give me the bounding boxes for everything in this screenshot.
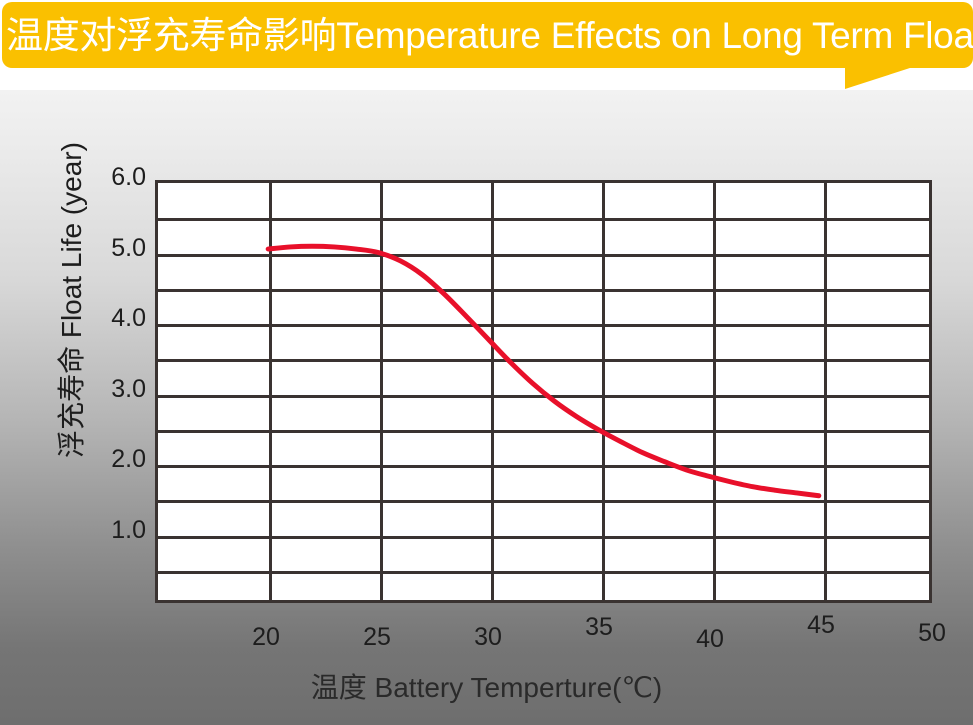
title-banner-tail-icon — [845, 67, 913, 89]
title-banner: 温度对浮充寿命影响Temperature Effects on Long Ter… — [2, 2, 973, 68]
gridline-vertical — [713, 183, 716, 600]
gridline-vertical — [602, 183, 605, 600]
x-tick-label: 35 — [569, 613, 629, 642]
page-title: 温度对浮充寿命影响Temperature Effects on Long Ter… — [6, 12, 973, 60]
plot-area — [155, 180, 932, 603]
x-tick-label: 50 — [902, 619, 962, 648]
y-tick-label: 1.0 — [84, 516, 146, 545]
gridline-horizontal — [158, 324, 929, 327]
gridline-vertical — [824, 183, 827, 600]
gridline-horizontal — [158, 536, 929, 539]
x-tick-label: 30 — [458, 623, 518, 652]
gridline-horizontal — [158, 289, 929, 292]
y-tick-label: 6.0 — [84, 163, 146, 192]
y-tick-label: 2.0 — [84, 445, 146, 474]
x-tick-label: 40 — [680, 625, 740, 654]
y-tick-label: 4.0 — [84, 304, 146, 333]
gridline-horizontal — [158, 465, 929, 468]
gridline-vertical — [491, 183, 494, 600]
gridline-horizontal — [158, 359, 929, 362]
y-axis-title: 浮充寿命 Float Life (year) — [50, 90, 90, 510]
y-tick-label: 3.0 — [84, 375, 146, 404]
x-tick-label: 45 — [791, 611, 851, 640]
data-series-line — [268, 246, 819, 496]
gridline-horizontal — [158, 218, 929, 221]
gridline-horizontal — [158, 395, 929, 398]
y-tick-label: 5.0 — [84, 234, 146, 263]
gridline-horizontal — [158, 430, 929, 433]
gridline-horizontal — [158, 500, 929, 503]
chart-page: 温度对浮充寿命影响Temperature Effects on Long Ter… — [0, 0, 973, 725]
gridline-vertical — [380, 183, 383, 600]
x-axis-title: 温度 Battery Temperture(℃) — [0, 666, 973, 706]
gridline-horizontal — [158, 571, 929, 574]
x-tick-label: 25 — [347, 623, 407, 652]
gridline-horizontal — [158, 254, 929, 257]
gridline-vertical — [269, 183, 272, 600]
x-tick-label: 20 — [236, 623, 296, 652]
